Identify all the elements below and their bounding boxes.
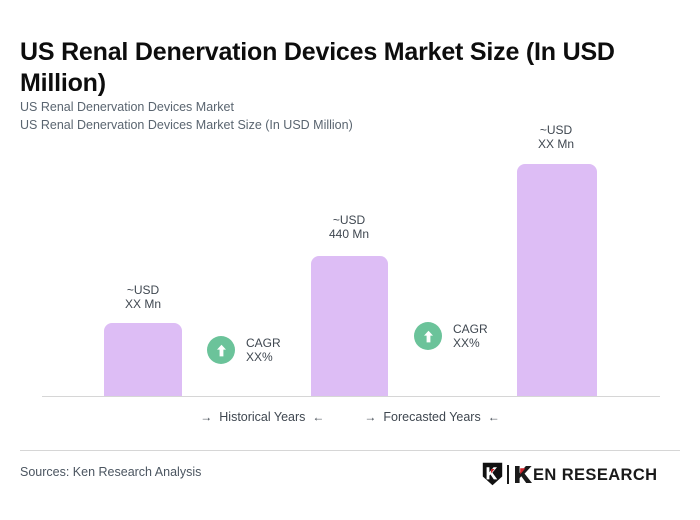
bar-value-label-2-line2: 440 Mn xyxy=(310,227,388,241)
chart-page: US Renal Denervation Devices Market Size… xyxy=(0,0,700,520)
arrow-right-icon: → xyxy=(200,411,212,423)
footer-divider xyxy=(20,450,680,451)
sources-text: Sources: Ken Research Analysis xyxy=(20,465,201,479)
legend-item-forecasted-label: Forecasted Years xyxy=(383,410,480,424)
bar-value-label-3-line1: ~USD xyxy=(516,123,596,137)
bar-base-year[interactable] xyxy=(311,256,388,396)
legend-item-historical-label: Historical Years xyxy=(219,410,305,424)
ken-research-wordmark-text: EN RESEARCH xyxy=(514,465,674,484)
ken-research-shield-icon xyxy=(482,462,503,486)
ken-research-wordmark: EN RESEARCH xyxy=(514,465,674,484)
cagr-badge-1-line2: XX% xyxy=(246,350,281,364)
bar-value-label-3-line2: XX Mn xyxy=(516,137,596,151)
cagr-badge-1: CAGR XX% xyxy=(207,336,281,364)
arrow-left-icon: ← xyxy=(312,411,324,423)
bar-historical[interactable] xyxy=(104,323,182,396)
arrow-up-icon xyxy=(414,322,442,350)
subtitle-line-1: US Renal Denervation Devices Market xyxy=(20,98,640,116)
arrow-up-icon xyxy=(207,336,235,364)
bar-value-label-3: ~USD XX Mn xyxy=(516,123,596,151)
arrow-right-icon: → xyxy=(364,411,376,423)
cagr-badge-2-line1: CAGR xyxy=(453,322,488,336)
cagr-badge-2-line2: XX% xyxy=(453,336,488,350)
legend-item-forecasted: → Forecasted Years ← xyxy=(364,410,499,424)
bar-value-label-2-line1: ~USD xyxy=(310,213,388,227)
cagr-badge-1-line1: CAGR xyxy=(246,336,281,350)
chart-legend: → Historical Years ← → Forecasted Years … xyxy=(0,410,700,424)
cagr-badge-2-text: CAGR XX% xyxy=(453,322,488,350)
page-title: US Renal Denervation Devices Market Size… xyxy=(20,37,670,99)
bar-value-label-2: ~USD 440 Mn xyxy=(310,213,388,241)
cagr-badge-2: CAGR XX% xyxy=(414,322,488,350)
legend-item-historical: → Historical Years ← xyxy=(200,410,324,424)
svg-text:EN RESEARCH: EN RESEARCH xyxy=(533,466,658,484)
bar-forecasted[interactable] xyxy=(517,164,597,396)
x-axis-line xyxy=(42,396,660,397)
arrow-left-icon: ← xyxy=(488,411,500,423)
bar-value-label-1-line2: XX Mn xyxy=(104,297,182,311)
bar-value-label-1: ~USD XX Mn xyxy=(104,283,182,311)
bar-value-label-1-line1: ~USD xyxy=(104,283,182,297)
cagr-badge-1-text: CAGR XX% xyxy=(246,336,281,364)
ken-research-logo: EN RESEARCH xyxy=(482,462,674,486)
logo-divider xyxy=(507,465,509,484)
chart-plot-area: ~USD XX Mn ~USD 440 Mn ~USD XX Mn CAGR X… xyxy=(0,120,700,400)
